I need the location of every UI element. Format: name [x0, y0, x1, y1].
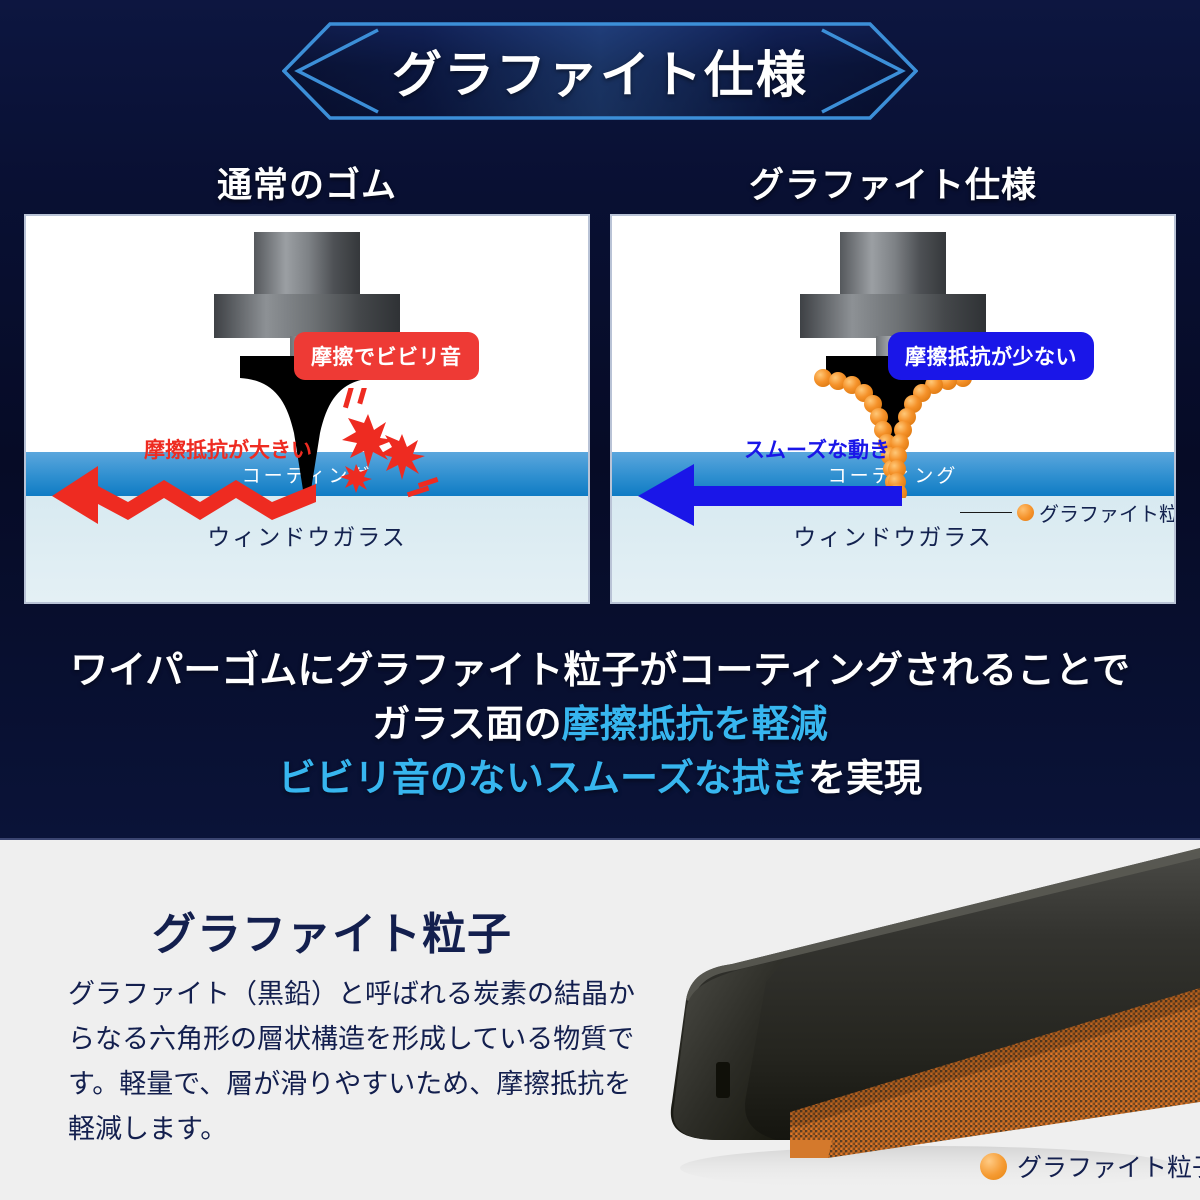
- badge-low-friction: 摩擦抵抗が少ない: [888, 332, 1094, 380]
- infographic-page: グラファイト仕様 通常のゴム ウィンドウガラス コーティング: [0, 0, 1200, 1200]
- particle-legend-inline: グラファイト粒子: [960, 498, 1176, 527]
- description-line-3-highlight-b: スムーズな拭き: [544, 758, 808, 800]
- badge-friction-noise: 摩擦でビビリ音: [294, 332, 479, 380]
- banner-title: グラファイト仕様: [282, 22, 918, 120]
- description-block: ワイパーゴムにグラファイト粒子がコーティングされることで ガラス面の摩擦抵抗を軽…: [0, 644, 1200, 806]
- graphite-legend: グラファイト粒子: [980, 1148, 1200, 1184]
- description-line-2-highlight: 摩擦抵抗を軽減: [562, 704, 828, 746]
- panel-left-diagram: ウィンドウガラス コーティング: [24, 214, 590, 604]
- graphite-particle-large-icon: [980, 1153, 1007, 1180]
- description-line-3-plain: を実現: [808, 758, 922, 800]
- panel-right-diagram: ウィンドウガラス コーティング: [610, 214, 1176, 604]
- top-section: グラファイト仕様 通常のゴム ウィンドウガラス コーティング: [0, 0, 1200, 838]
- wiper-blade-photo-icon: [600, 840, 1200, 1200]
- bottom-section: グラファイト粒子 グラファイト（黒鉛）と呼ばれる炭素の結晶からなる六角形の層状構…: [0, 838, 1200, 1200]
- panel-left-title: 通常のゴム: [24, 150, 590, 214]
- straight-arrow-icon: [636, 456, 906, 531]
- description-line-2: ガラス面の摩擦抵抗を軽減: [0, 698, 1200, 752]
- panel-right-title: グラファイト仕様: [610, 150, 1176, 214]
- description-line-3: ビビリ音のないスムーズな拭きを実現: [0, 752, 1200, 806]
- leader-line-icon: [960, 512, 1012, 513]
- panel-graphite-spec: グラファイト仕様 ウィンドウガラス コーティング: [610, 150, 1176, 604]
- zigzag-arrow-icon: [50, 456, 320, 531]
- description-line-2-plain: ガラス面の: [372, 704, 561, 746]
- detail-text-block: グラファイト粒子 グラファイト（黒鉛）と呼ばれる炭素の結晶からなる六角形の層状構…: [60, 898, 640, 1152]
- description-line-1: ワイパーゴムにグラファイト粒子がコーティングされることで: [0, 644, 1200, 698]
- title-banner: グラファイト仕様: [282, 22, 918, 120]
- graphite-particle-icon: [1017, 504, 1034, 521]
- detail-heading: グラファイト粒子: [152, 898, 640, 962]
- friction-spark-icon: [334, 388, 444, 498]
- graphite-legend-label: グラファイト粒子: [1017, 1148, 1200, 1184]
- product-photo: [600, 840, 1200, 1200]
- description-line-3-highlight-a: ビビリ音のない: [278, 758, 544, 800]
- detail-body: グラファイト（黒鉛）と呼ばれる炭素の結晶からなる六角形の層状構造を形成している物…: [68, 972, 640, 1152]
- panel-ordinary-rubber: 通常のゴム ウィンドウガラス コーティング: [24, 150, 590, 604]
- particle-legend-label: グラファイト粒子: [1039, 498, 1176, 527]
